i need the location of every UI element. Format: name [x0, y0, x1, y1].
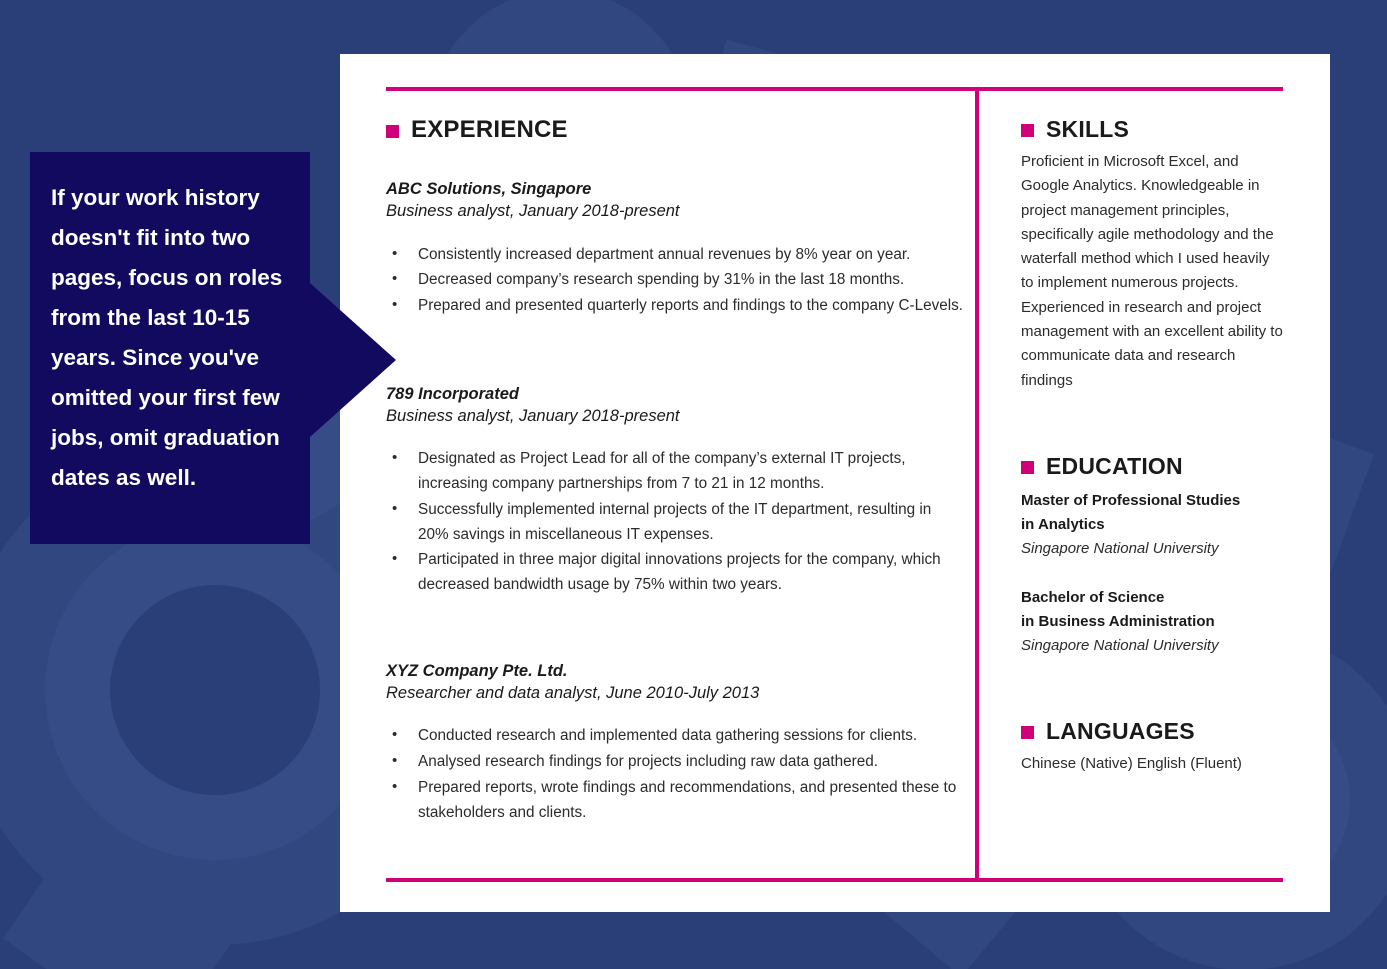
skills-block: SKILLS Proficient in Microsoft Excel, an… [1021, 116, 1286, 393]
bottom-accent-rule [386, 878, 1283, 882]
square-bullet-icon [1021, 726, 1034, 739]
square-bullet-icon [386, 125, 399, 138]
education-entry: Bachelor of Science in Business Administ… [1021, 586, 1286, 658]
education-degree-line: in Analytics [1021, 513, 1286, 537]
job-bullet: Designated as Project Lead for all of th… [386, 447, 966, 497]
skills-body-text: Proficient in Microsoft Excel, and Googl… [1021, 150, 1286, 393]
resume-card: EXPERIENCE ABC Solutions, Singapore Busi… [340, 54, 1330, 912]
languages-heading-label: LANGUAGES [1046, 718, 1195, 745]
education-school-name: Singapore National University [1021, 634, 1286, 658]
experience-column: EXPERIENCE ABC Solutions, Singapore Busi… [386, 116, 966, 827]
job-company-name: XYZ Company Pte. Ltd. [386, 660, 966, 682]
slide-canvas: EXPERIENCE ABC Solutions, Singapore Busi… [0, 0, 1387, 969]
job-bullet-list: Conducted research and implemented data … [386, 724, 966, 825]
job-role-dates: Business analyst, January 2018-present [386, 405, 966, 427]
job-bullet: Consistently increased department annual… [386, 243, 966, 268]
job-entry: ABC Solutions, Singapore Business analys… [386, 178, 966, 319]
tip-callout-text: If your work history doesn't fit into tw… [51, 178, 303, 498]
job-bullet: Successfully implemented internal projec… [386, 498, 966, 548]
education-block: EDUCATION Master of Professional Studies… [1021, 453, 1286, 658]
section-heading-languages: LANGUAGES [1021, 718, 1286, 745]
column-divider [975, 87, 979, 882]
job-bullet: Analysed research findings for projects … [386, 750, 966, 775]
section-heading-experience: EXPERIENCE [386, 116, 966, 144]
callout-arrow-pointer [310, 283, 396, 437]
education-school-name: Singapore National University [1021, 537, 1286, 561]
job-role-dates: Business analyst, January 2018-present [386, 200, 966, 222]
job-entry: XYZ Company Pte. Ltd. Researcher and dat… [386, 660, 966, 826]
job-bullet-list: Consistently increased department annual… [386, 243, 966, 319]
job-bullet: Decreased company’s research spending by… [386, 268, 966, 293]
education-degree-line: Master of Professional Studies [1021, 489, 1286, 513]
square-bullet-icon [1021, 461, 1034, 474]
job-company-name: ABC Solutions, Singapore [386, 178, 966, 200]
job-bullet: Prepared and presented quarterly reports… [386, 294, 966, 319]
section-heading-skills: SKILLS [1021, 116, 1286, 143]
education-heading-label: EDUCATION [1046, 453, 1183, 480]
languages-body-text: Chinese (Native) English (Fluent) [1021, 752, 1286, 776]
section-heading-education: EDUCATION [1021, 453, 1286, 480]
top-accent-rule [386, 87, 1283, 91]
job-bullet: Prepared reports, wrote findings and rec… [386, 776, 966, 826]
job-bullet: Conducted research and implemented data … [386, 724, 966, 749]
job-bullet-list: Designated as Project Lead for all of th… [386, 447, 966, 598]
job-role-dates: Researcher and data analyst, June 2010-J… [386, 682, 966, 704]
square-bullet-icon [1021, 124, 1034, 137]
job-entry: 789 Incorporated Business analyst, Janua… [386, 383, 966, 598]
sidebar-column: SKILLS Proficient in Microsoft Excel, an… [1021, 116, 1286, 820]
education-degree-line: in Business Administration [1021, 610, 1286, 634]
education-entry: Master of Professional Studies in Analyt… [1021, 489, 1286, 561]
experience-heading-label: EXPERIENCE [411, 116, 568, 144]
tip-callout-box: If your work history doesn't fit into tw… [30, 152, 310, 544]
languages-block: LANGUAGES Chinese (Native) English (Flue… [1021, 718, 1286, 776]
job-company-name: 789 Incorporated [386, 383, 966, 405]
job-bullet: Participated in three major digital inno… [386, 548, 966, 598]
skills-heading-label: SKILLS [1046, 116, 1129, 143]
education-degree-line: Bachelor of Science [1021, 586, 1286, 610]
